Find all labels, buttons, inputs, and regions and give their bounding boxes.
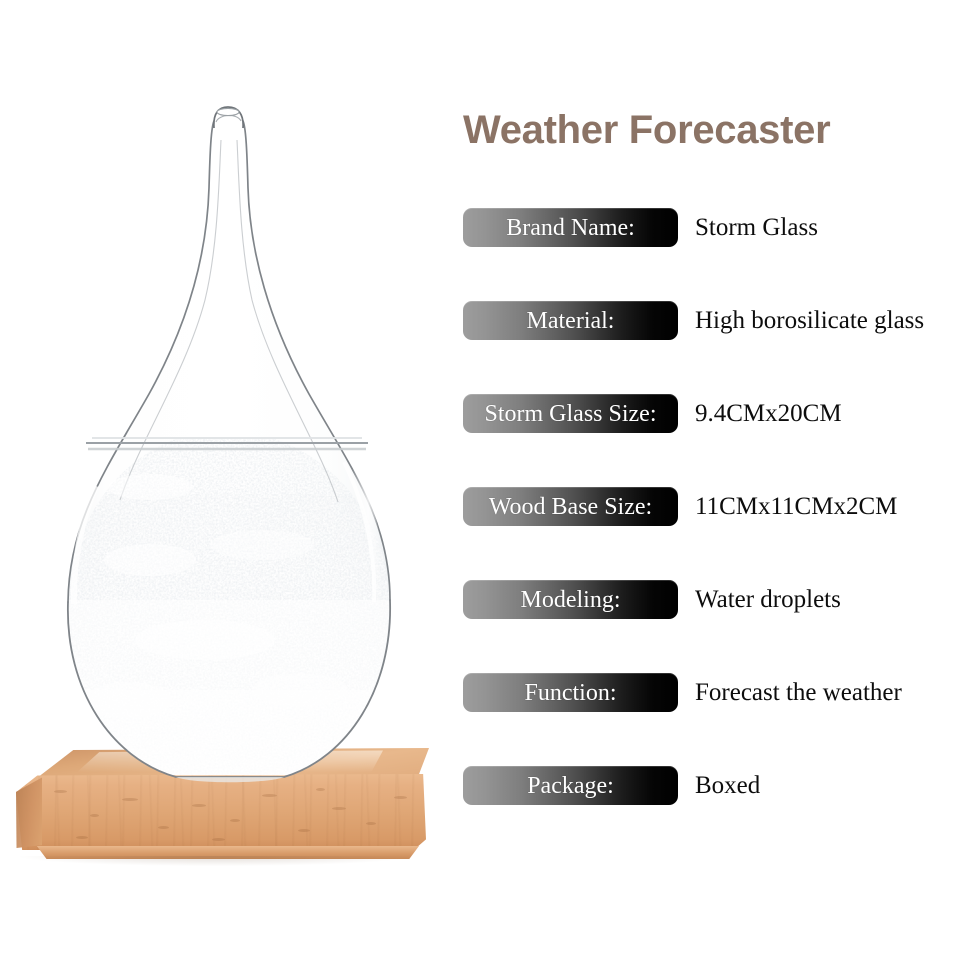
- spec-label-badge: Wood Base Size:: [463, 487, 678, 526]
- spec-label-text: Function:: [524, 681, 616, 705]
- spec-value-text: 9.4CMx20CM: [695, 394, 842, 433]
- product-photo: [0, 0, 450, 980]
- spec-row-package: Package: Boxed: [450, 766, 980, 806]
- spec-panel: Weather Forecaster Brand Name: Storm Gla…: [450, 0, 980, 980]
- spec-value-text: Storm Glass: [695, 208, 818, 247]
- spec-label-badge: Storm Glass Size:: [463, 394, 678, 433]
- spec-value-text: Water droplets: [695, 580, 841, 619]
- spec-label-badge: Function:: [463, 673, 678, 712]
- spec-value-text: 11CMx11CMx2CM: [695, 487, 897, 526]
- spec-value-text: Forecast the weather: [695, 673, 902, 712]
- spec-label-text: Brand Name:: [506, 216, 635, 240]
- spec-label-text: Wood Base Size:: [489, 495, 652, 519]
- product-infographic: Weather Forecaster Brand Name: Storm Gla…: [0, 0, 980, 980]
- storm-glass-illustration: [0, 0, 450, 980]
- glass-base-contact: [176, 777, 284, 782]
- spec-label-text: Modeling:: [521, 588, 621, 612]
- spec-value-text: Boxed: [695, 766, 760, 805]
- storm-glass-vessel: [0, 0, 450, 980]
- spec-row-function: Function: Forecast the weather: [450, 673, 980, 713]
- spec-label-badge: Package:: [463, 766, 678, 805]
- spec-row-storm-glass-size: Storm Glass Size: 9.4CMx20CM: [450, 394, 980, 434]
- spec-row-modeling: Modeling: Water droplets: [450, 580, 980, 620]
- spec-value-text: High borosilicate glass: [695, 301, 924, 340]
- spec-row-material: Material: High borosilicate glass: [450, 301, 980, 341]
- spec-row-wood-base-size: Wood Base Size: 11CMx11CMx2CM: [450, 487, 980, 527]
- spec-label-badge: Brand Name:: [463, 208, 678, 247]
- spec-label-text: Package:: [527, 774, 614, 798]
- spec-row-brand-name: Brand Name: Storm Glass: [450, 208, 980, 248]
- spec-list: Brand Name: Storm Glass Material: High b…: [450, 0, 980, 980]
- spec-label-badge: Modeling:: [463, 580, 678, 619]
- spec-label-badge: Material:: [463, 301, 678, 340]
- spec-label-text: Material:: [527, 309, 615, 333]
- spec-label-text: Storm Glass Size:: [485, 402, 657, 426]
